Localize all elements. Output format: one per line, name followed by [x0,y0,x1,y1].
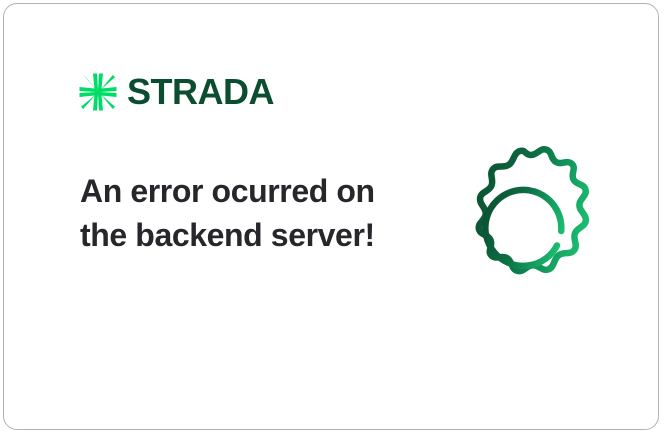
gear-cog-icon [447,139,615,307]
error-card: STRADA An error ocurred on the backend s… [3,3,659,430]
brand-wordmark: STRADA [127,74,274,110]
brand-lockup: STRADA [78,72,274,112]
error-message: An error ocurred on the backend server! [80,170,380,258]
strada-asterisk-icon [78,72,118,112]
